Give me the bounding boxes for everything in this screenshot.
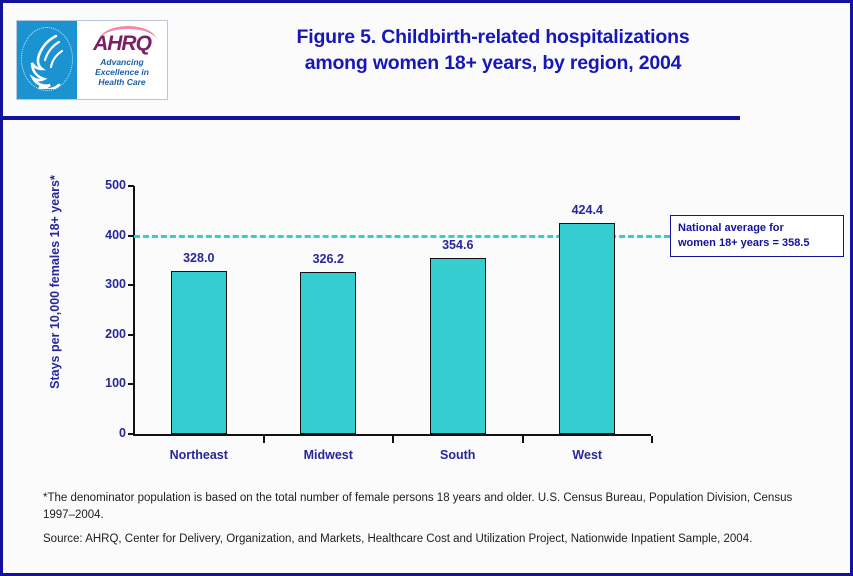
y-tick-label: 300 bbox=[86, 277, 126, 291]
y-tick-label: 100 bbox=[86, 376, 126, 390]
y-tick-mark bbox=[128, 185, 134, 187]
bar-west bbox=[559, 223, 615, 434]
source-text: Source: AHRQ, Center for Delivery, Organ… bbox=[43, 531, 823, 548]
x-tick-mark bbox=[392, 436, 394, 443]
hhs-seal-icon bbox=[17, 21, 77, 99]
y-tick-mark bbox=[128, 433, 134, 435]
y-tick-label: 0 bbox=[86, 426, 126, 440]
x-tick-mark bbox=[651, 436, 653, 443]
x-category-label-west: West bbox=[527, 448, 647, 462]
y-tick-mark bbox=[128, 383, 134, 385]
header-divider bbox=[3, 116, 740, 120]
x-category-label-midwest: Midwest bbox=[268, 448, 388, 462]
ahrq-tagline-line1: Advancing bbox=[95, 57, 149, 67]
y-tick-label: 200 bbox=[86, 327, 126, 341]
bar-value-label: 326.2 bbox=[283, 252, 373, 266]
bar-midwest bbox=[300, 272, 356, 434]
bar-northeast bbox=[171, 271, 227, 434]
ahrq-logo: AHRQ Advancing Excellence in Health Care bbox=[16, 20, 168, 100]
ahrq-wordmark: AHRQ Advancing Excellence in Health Care bbox=[77, 21, 167, 99]
x-category-label-south: South bbox=[398, 448, 518, 462]
y-tick-mark bbox=[128, 235, 134, 237]
callout-line2: women 18+ years = 358.5 bbox=[678, 236, 836, 251]
y-tick-mark bbox=[128, 284, 134, 286]
x-tick-mark bbox=[522, 436, 524, 443]
ahrq-tagline-line3: Health Care bbox=[95, 77, 149, 87]
ahrq-arc-icon bbox=[99, 26, 157, 41]
bar-chart: Stays per 10,000 females 18+ years* Nati… bbox=[3, 123, 850, 483]
bar-value-label: 328.0 bbox=[154, 251, 244, 265]
y-tick-mark bbox=[128, 334, 134, 336]
y-tick-label: 400 bbox=[86, 228, 126, 242]
ahrq-tagline: Advancing Excellence in Health Care bbox=[95, 57, 149, 87]
bar-value-label: 424.4 bbox=[542, 203, 632, 217]
national-average-callout: National average for women 18+ years = 3… bbox=[670, 215, 844, 257]
hhs-eagle-icon bbox=[26, 33, 68, 89]
footnote-text: *The denominator population is based on … bbox=[43, 490, 823, 523]
figure-title: Figure 5. Childbirth-related hospitaliza… bbox=[183, 25, 803, 76]
figure-title-line2: among women 18+ years, by region, 2004 bbox=[183, 51, 803, 77]
bar-south bbox=[430, 258, 486, 434]
figure-page: AHRQ Advancing Excellence in Health Care… bbox=[0, 0, 853, 576]
figure-title-line1: Figure 5. Childbirth-related hospitaliza… bbox=[183, 25, 803, 51]
ahrq-acronym: AHRQ bbox=[93, 33, 151, 54]
x-category-label-northeast: Northeast bbox=[139, 448, 259, 462]
y-axis-line bbox=[133, 186, 135, 435]
y-axis-label: Stays per 10,000 females 18+ years* bbox=[48, 142, 62, 422]
x-tick-mark bbox=[263, 436, 265, 443]
figure-header: AHRQ Advancing Excellence in Health Care… bbox=[3, 3, 850, 113]
y-tick-label: 500 bbox=[86, 178, 126, 192]
callout-line1: National average for bbox=[678, 221, 836, 236]
figure-notes: *The denominator population is based on … bbox=[43, 490, 823, 556]
bar-value-label: 354.6 bbox=[413, 238, 503, 252]
ahrq-tagline-line2: Excellence in bbox=[95, 67, 149, 77]
